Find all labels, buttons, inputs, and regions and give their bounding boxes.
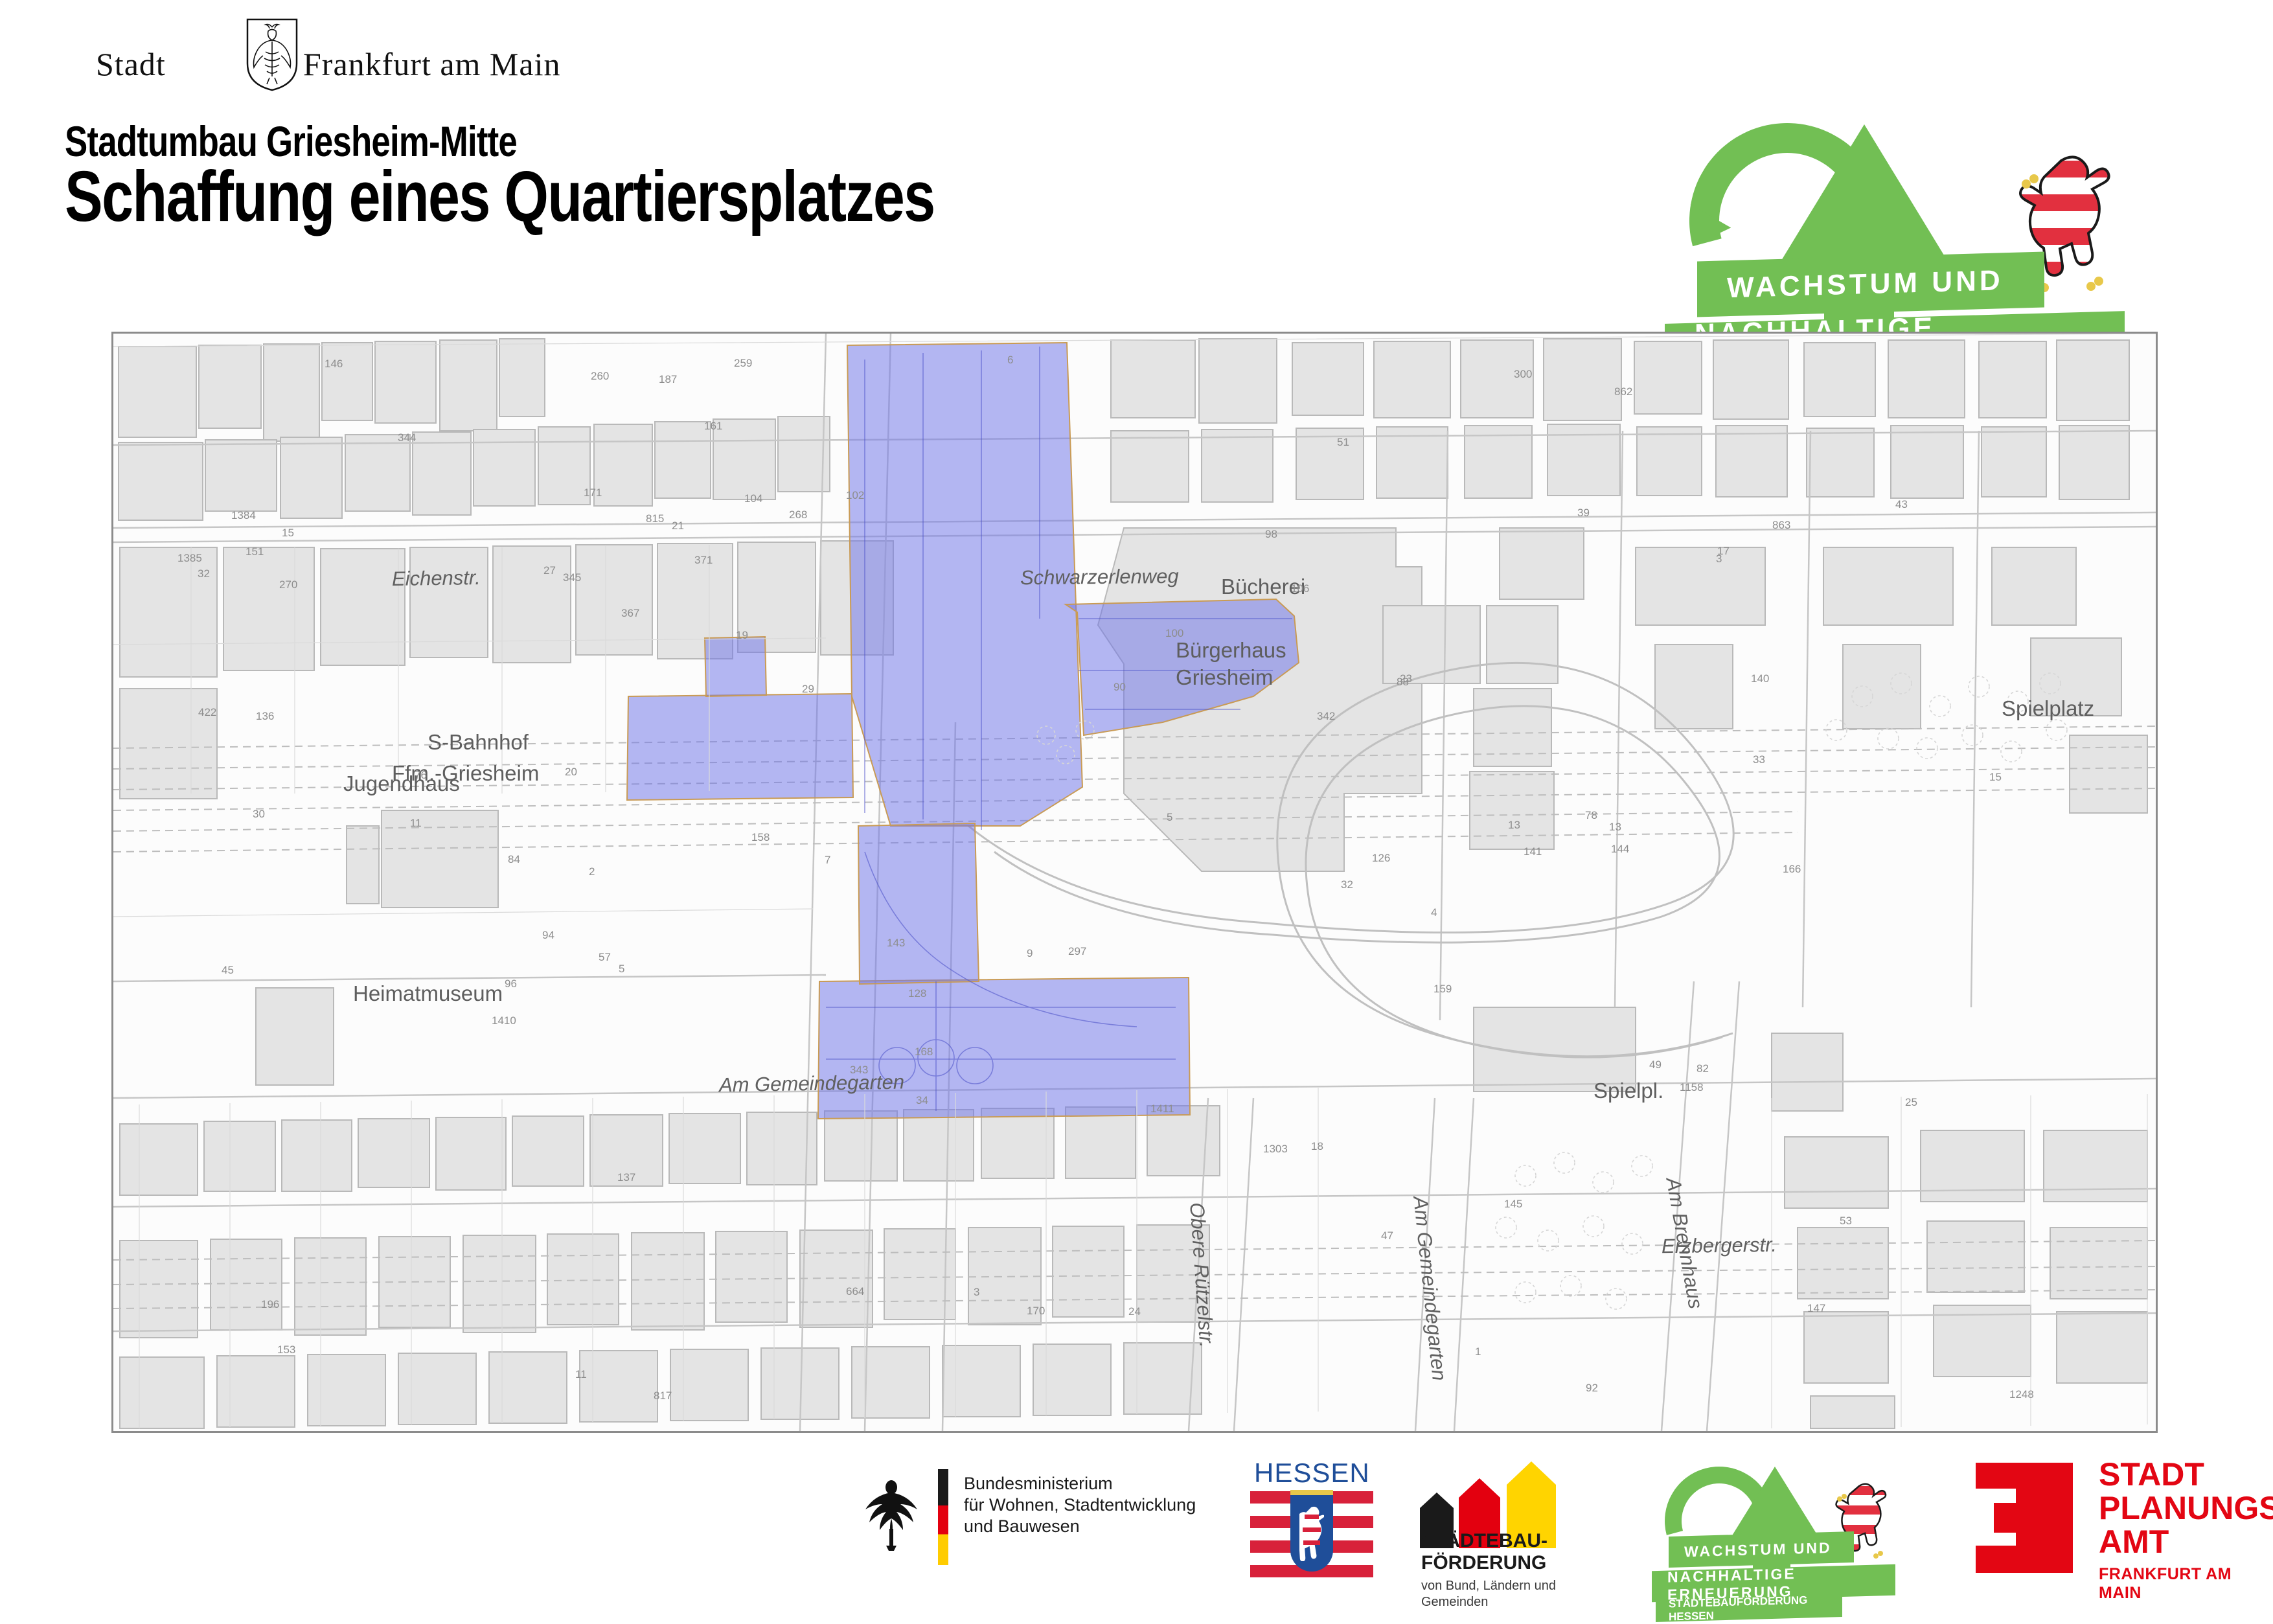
parcel-number: 367: [621, 607, 639, 620]
parcel-number: 32: [198, 567, 210, 580]
german-flag-bar-icon: [938, 1469, 948, 1565]
parcel-number: 82: [1696, 1062, 1709, 1075]
page-header: Stadt Frankfurt am Main Stadtumbau Gries…: [0, 0, 2273, 324]
parcel-number: 145: [1504, 1198, 1522, 1211]
parcel-number: 106: [1291, 582, 1309, 595]
parcel-number: 344: [398, 431, 416, 444]
hessen-logo: HESSEN: [1250, 1458, 1380, 1587]
stadtplanungsamt-text: STADT PLANUNGS AMT: [2099, 1458, 2273, 1559]
parcel-number: 84: [508, 853, 520, 866]
parcel-number: 94: [542, 929, 554, 942]
parcel-number: 1410: [492, 1014, 516, 1027]
street-label-eichenstr: Eichenstr.: [392, 566, 481, 591]
parcel-number: 141: [1524, 845, 1542, 858]
parcel-number: 7: [825, 854, 830, 867]
parcel-number: 96: [505, 978, 517, 990]
parcel-number: 297: [1068, 945, 1086, 958]
bmwsb-line3: und Bauwesen: [964, 1516, 1196, 1537]
parcel-number: 51: [1337, 436, 1349, 449]
parcel-number: 78: [1585, 809, 1597, 822]
parcel-number: 13: [1609, 821, 1621, 834]
parcel-number: 187: [659, 373, 677, 386]
parcel-number: 100: [1165, 627, 1183, 640]
staedtebau-line2: FÖRDERUNG: [1421, 1552, 1548, 1574]
place-label-spielplatz: Spielplatz: [2002, 696, 2094, 721]
parcel-number: 342: [1317, 710, 1335, 723]
parcel-number: 34: [916, 1094, 928, 1107]
parcel-number: 158: [751, 831, 770, 844]
page-footer: Bundesministerium für Wohnen, Stadtentwi…: [0, 1458, 2273, 1607]
parcel-number: 57: [599, 951, 611, 964]
cadastral-map[interactable]: Eichenstr. Schwarzerlenweg Am Gemeindega…: [111, 332, 2158, 1433]
bmwsb-line2: für Wohnen, Stadtentwicklung: [964, 1494, 1196, 1516]
parcel-number: 5: [619, 963, 624, 976]
parcel-number: 171: [584, 486, 602, 499]
parcel-number: 259: [734, 357, 752, 370]
staedtebau-text: STÄDTEBAU- FÖRDERUNG: [1421, 1530, 1548, 1574]
parcel-number: 43: [1895, 498, 1908, 511]
parcel-number: 345: [563, 571, 581, 584]
stadtplanungsamt-mark-icon: [1976, 1463, 2073, 1573]
hessen-lion-small-icon: [1299, 1504, 1324, 1561]
parcel-number: 143: [887, 937, 905, 950]
parcel-number: 39: [1577, 507, 1590, 520]
city-logo-word-frankfurt: Frankfurt am Main: [303, 45, 560, 83]
parcel-number: 15: [1989, 771, 2002, 784]
staedtebau-sub2: Gemeinden: [1421, 1594, 1556, 1610]
parcel-number: 45: [222, 964, 234, 977]
parcel-number: 1385: [177, 552, 202, 565]
parcel-number: 126: [1372, 852, 1390, 865]
hessen-wordmark: HESSEN: [1254, 1458, 1370, 1489]
parcel-number: 146: [325, 358, 343, 371]
parcel-number: 3: [974, 1286, 979, 1299]
parcel-number: 343: [850, 1064, 868, 1077]
parcel-number: 76: [415, 769, 427, 782]
parcel-number: 5: [1167, 811, 1172, 824]
bmwsb-logo: Bundesministerium für Wohnen, Stadtentwi…: [862, 1458, 1198, 1581]
place-label-spielpl: Spielpl.: [1593, 1079, 1663, 1103]
page-title: Schaffung eines Quartiersplatzes: [65, 155, 935, 238]
federal-eagle-icon: [862, 1473, 921, 1551]
parcel-number: 15: [282, 527, 294, 540]
parcel-number: 4: [1431, 906, 1437, 919]
parcel-number: 92: [1586, 1382, 1598, 1395]
parcel-number: 140: [1751, 672, 1769, 685]
program-logo-footer: WACHSTUM UND NACHHALTIGE ERNEUERUNG STÄD…: [1652, 1458, 1924, 1600]
parcel-number: 11: [410, 817, 422, 830]
parcel-number: 1158: [1680, 1081, 1704, 1094]
street-label-am-gemeindegarten: Am Gemeindegarten: [719, 1071, 905, 1097]
spa-subtitle: FRANKFURT AM MAIN: [2099, 1565, 2235, 1603]
map-drawing: [113, 334, 2156, 1431]
parcel-number: 815: [646, 512, 664, 525]
parcel-number: 24: [1128, 1305, 1141, 1318]
parcel-number: 1303: [1263, 1143, 1288, 1156]
parcel-number: 30: [253, 808, 265, 821]
up-arrow-icon: [1781, 124, 1947, 260]
parcel-number: 371: [694, 554, 713, 567]
parcel-number: 300: [1514, 368, 1532, 381]
parcel-number: 128: [908, 987, 926, 1000]
bmwsb-line1: Bundesministerium: [964, 1473, 1196, 1494]
parcel-number: 422: [198, 706, 216, 719]
parcel-number: 161: [704, 420, 722, 433]
parcel-number: 29: [802, 683, 814, 696]
parcel-number: 270: [279, 578, 297, 591]
stadtplanungsamt-logo: STADT PLANUNGS AMT FRANKFURT AM MAIN: [1976, 1458, 2235, 1587]
parcel-number: 168: [915, 1046, 933, 1058]
staedtebaufoerderung-logo: STÄDTEBAU- FÖRDERUNG von Bund, Ländern u…: [1412, 1458, 1606, 1594]
city-logo-word-stadt: Stadt: [96, 45, 166, 83]
parcel-number: 863: [1772, 519, 1790, 532]
street-label-schwarzerlenweg: Schwarzerlenweg: [1020, 565, 1179, 590]
parcel-number: 260: [591, 370, 609, 383]
parcel-number: 17: [1717, 545, 1730, 558]
program-footer-line1: WACHSTUM UND: [1669, 1531, 1854, 1568]
staedtebau-sub: von Bund, Ländern und Gemeinden: [1421, 1578, 1556, 1610]
parcel-number: 1: [1475, 1345, 1481, 1358]
parcel-number: 18: [1311, 1140, 1323, 1153]
parcel-number: 153: [277, 1344, 295, 1356]
place-label-buergerhaus: Bürgerhaus: [1176, 638, 1286, 663]
stadt-frankfurt-logo: Stadt Frankfurt am Main: [96, 34, 510, 92]
parcel-number: 1384: [231, 509, 256, 522]
parcel-number: 159: [1433, 983, 1452, 996]
parcel-number: 664: [846, 1285, 864, 1298]
parcel-number: 25: [1905, 1096, 1917, 1109]
place-label-heimatmuseum: Heimatmuseum: [353, 981, 503, 1006]
place-label-griesheim: Griesheim: [1176, 665, 1273, 690]
place-label-s-bahnhof: S-Bahnhof: [428, 730, 529, 755]
parcel-number: 137: [617, 1171, 635, 1184]
parcel-number: 136: [256, 710, 274, 723]
parcel-number: 102: [846, 489, 864, 502]
parcel-number: 11: [575, 1368, 587, 1381]
parcel-number: 98: [1265, 528, 1277, 541]
parcel-number: 19: [736, 629, 748, 642]
parcel-number: 151: [246, 545, 264, 558]
parcel-number: 2: [589, 865, 595, 878]
parcel-number: 53: [1840, 1215, 1852, 1228]
parcel-number: 1411: [1150, 1103, 1174, 1115]
parcel-number: 6: [1007, 354, 1013, 367]
parcel-number: 27: [543, 564, 556, 577]
parcel-number: 196: [261, 1298, 279, 1311]
staedtebau-sub1: von Bund, Ländern und: [1421, 1578, 1556, 1594]
parcel-number: 47: [1381, 1229, 1393, 1242]
parcel-number: 13: [1508, 819, 1520, 832]
parcel-number: 32: [1341, 878, 1353, 891]
bmwsb-text: Bundesministerium für Wohnen, Stadtentwi…: [964, 1473, 1196, 1537]
spa-line2: PLANUNGS: [2099, 1491, 2273, 1525]
parcel-number: 90: [1114, 681, 1126, 694]
parcel-number: 268: [789, 509, 807, 521]
place-label-jugendhaus: Jugendhaus: [343, 772, 460, 796]
parcel-number: 862: [1614, 385, 1632, 398]
spa-line3: AMT: [2099, 1525, 2273, 1559]
parcel-number: 33: [1753, 753, 1765, 766]
program-footer-line3: STÄDTEBAUFÖRDERUNG HESSEN: [1656, 1595, 1842, 1622]
parcel-number: 170: [1027, 1305, 1045, 1318]
parcel-number: 9: [1027, 947, 1033, 960]
parcel-number: 23: [1400, 672, 1412, 685]
parcel-number: 20: [565, 766, 577, 779]
parcel-number: 147: [1807, 1302, 1825, 1315]
parcel-number: 817: [654, 1390, 672, 1402]
frankfurt-eagle-crest-icon: [244, 17, 301, 92]
parcel-number: 166: [1783, 863, 1801, 876]
parcel-number: 1248: [2009, 1388, 2034, 1401]
parcel-number: 21: [672, 520, 684, 532]
parcel-number: 104: [744, 492, 762, 505]
spa-line1: STADT: [2099, 1458, 2273, 1491]
parcel-number: 49: [1649, 1058, 1662, 1071]
parcel-number: 144: [1611, 843, 1629, 856]
program-logo-line1: WACHSTUM UND: [1697, 252, 2044, 317]
staedtebau-line1: STÄDTEBAU-: [1421, 1530, 1548, 1552]
